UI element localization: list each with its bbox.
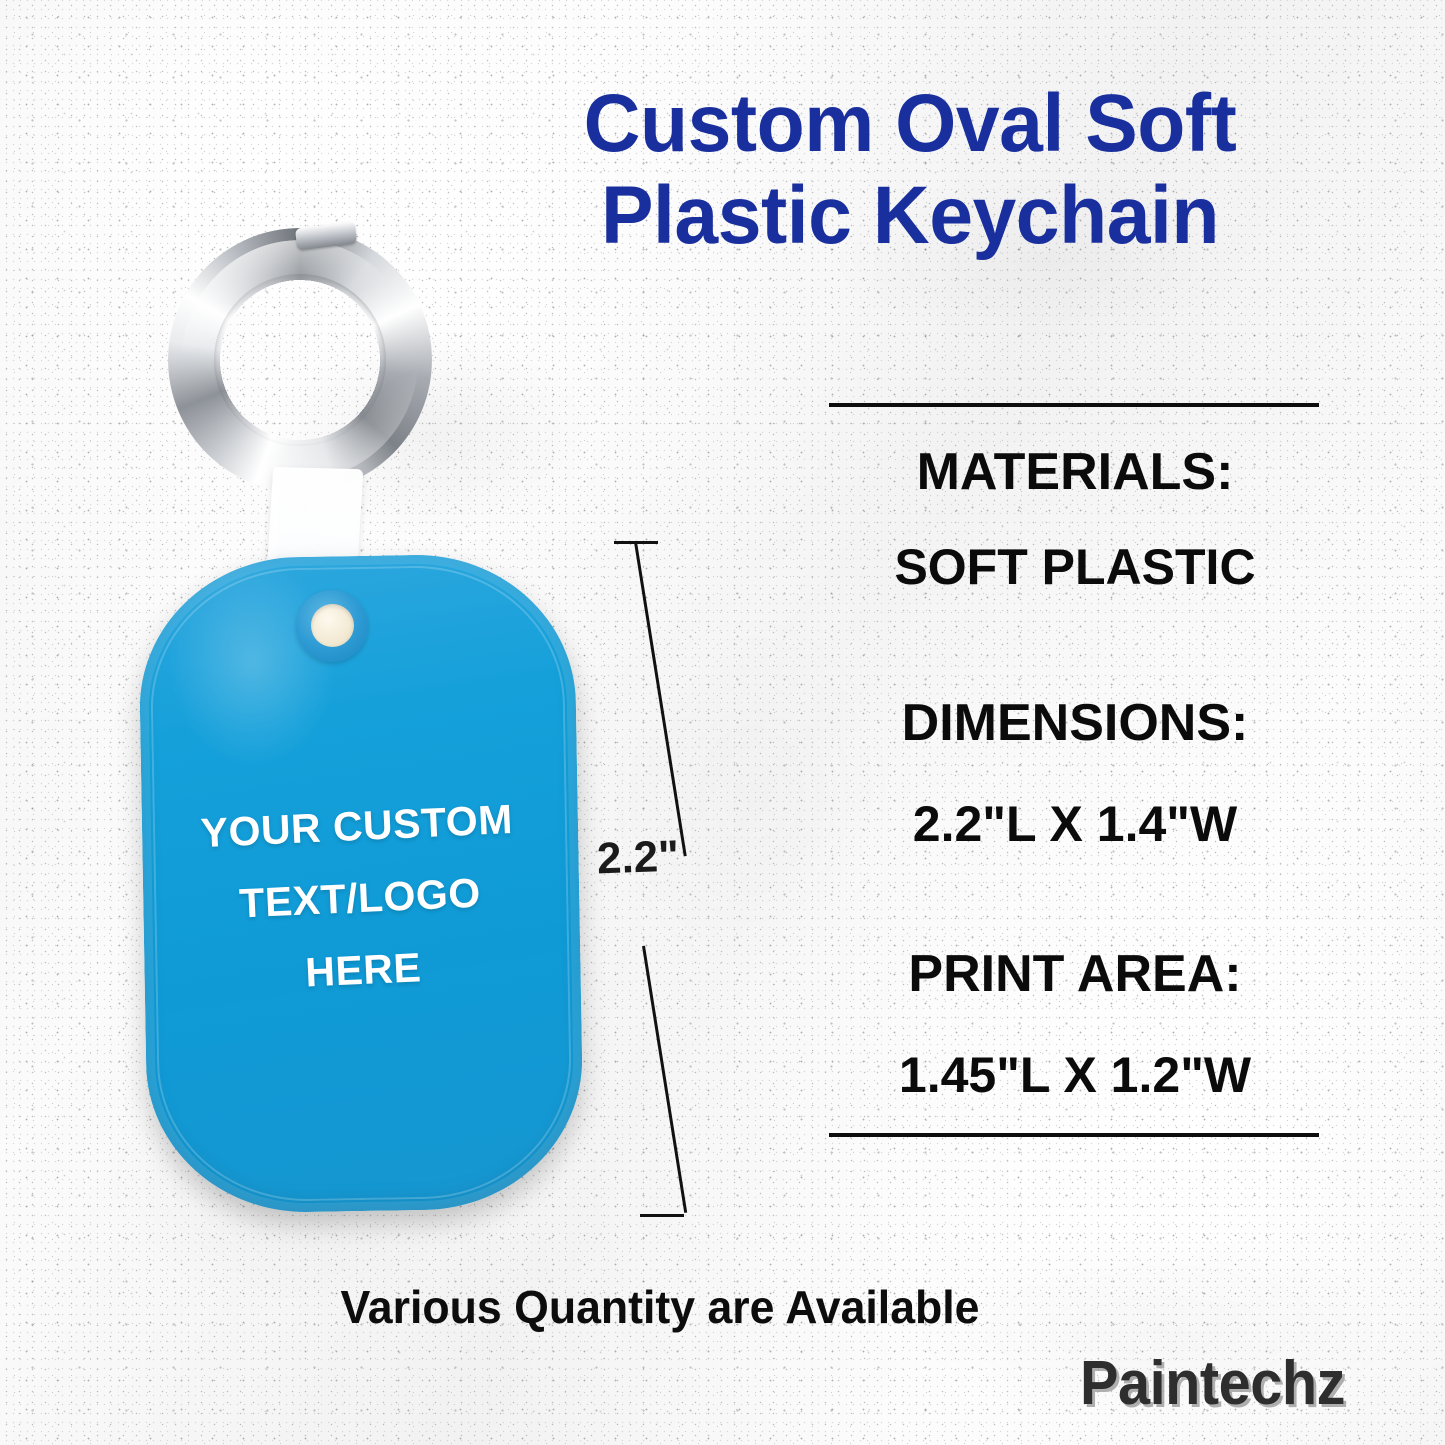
product-title-line-2: Plastic Keychain [488, 170, 1333, 262]
grommet-hole-icon [311, 604, 354, 647]
spec-divider-bottom [829, 1133, 1319, 1137]
split-ring-hole [214, 274, 386, 446]
spec-divider-top [829, 403, 1319, 407]
product-title-line-1: Custom Oval Soft [488, 78, 1333, 170]
spec-heading-materials: MATERIALS: [810, 443, 1340, 501]
spec-heading-dimensions: DIMENSIONS: [810, 694, 1340, 752]
tag-custom-text: YOUR CUSTOM TEXT/LOGO HERE [145, 781, 574, 1016]
dimension-segment-top [634, 542, 687, 857]
dimension-cap-bottom [640, 1214, 684, 1217]
spec-value-print-area: 1.45"L X 1.2"W [810, 1046, 1340, 1104]
product-title: Custom Oval Soft Plastic Keychain [488, 78, 1333, 262]
brand-wordmark: Paintechz [880, 1348, 1345, 1419]
split-ring-icon [168, 228, 432, 492]
availability-note: Various Quantity are Available [224, 1280, 1097, 1334]
dimension-segment-bottom [642, 946, 687, 1213]
spec-heading-print-area: PRINT AREA: [810, 945, 1340, 1003]
spec-value-materials: SOFT PLASTIC [810, 538, 1340, 596]
product-infographic: Custom Oval Soft Plastic Keychain YOUR C… [0, 0, 1445, 1445]
spec-value-dimensions: 2.2"L X 1.4"W [810, 795, 1340, 853]
dimension-label: 2.2" [577, 831, 699, 885]
